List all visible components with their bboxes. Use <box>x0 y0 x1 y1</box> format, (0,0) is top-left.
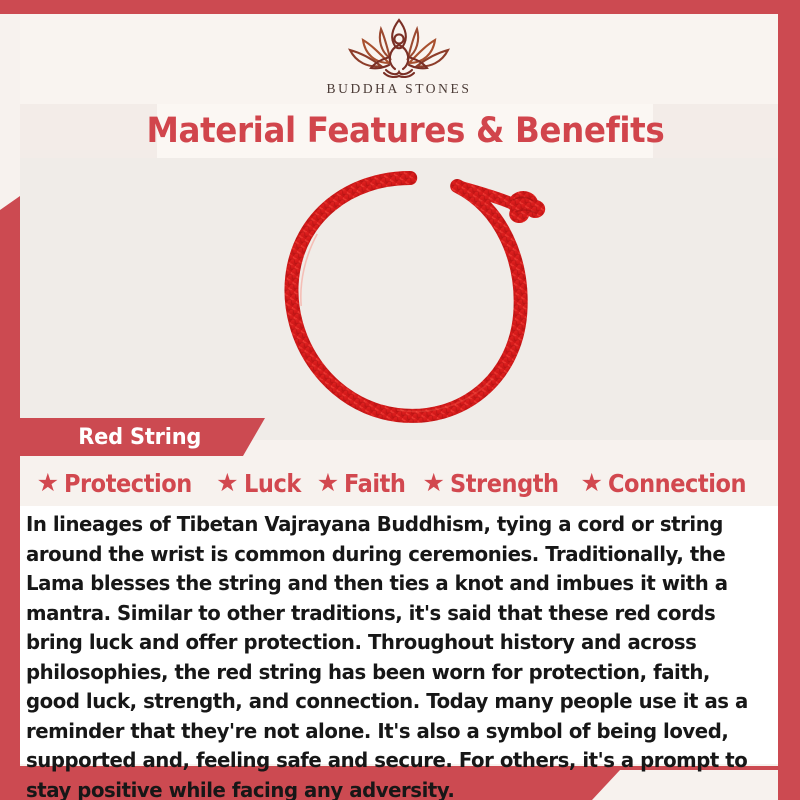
benefit-faith: ★ Faith <box>317 469 413 498</box>
product-photo-area <box>20 158 778 440</box>
benefit-luck: ★ Luck <box>216 469 307 498</box>
brand-header: BUDDHA STONES <box>20 14 778 104</box>
star-icon: ★ <box>422 471 444 496</box>
benefit-connection: ★ Connection <box>581 469 762 498</box>
lotus-meditation-icon <box>340 16 458 80</box>
benefit-label: Strength <box>450 469 559 498</box>
frame-right-bar <box>778 0 800 800</box>
frame-left-lower-bar <box>0 428 20 800</box>
benefit-strength: ★ Strength <box>422 469 570 498</box>
red-string-bracelet-image <box>247 164 577 436</box>
benefit-label: Faith <box>344 469 405 498</box>
description-text: In lineages of Tibetan Vajrayana Buddhis… <box>26 510 757 800</box>
description-panel: In lineages of Tibetan Vajrayana Buddhis… <box>20 506 778 764</box>
star-icon: ★ <box>581 471 603 496</box>
page-title: Material Features & Benefits <box>146 111 664 151</box>
title-plate: Material Features & Benefits <box>157 104 653 158</box>
benefit-label: Connection <box>608 469 746 498</box>
frame-top-bar <box>0 0 800 14</box>
brand-name: BUDDHA STONES <box>327 81 472 97</box>
frame-left-upper-bar <box>0 196 20 428</box>
red-string-label: Red String <box>78 425 201 450</box>
red-string-banner: Red String <box>20 418 265 456</box>
star-icon: ★ <box>37 471 59 496</box>
benefit-label: Protection <box>64 469 192 498</box>
star-icon: ★ <box>216 471 238 496</box>
star-icon: ★ <box>317 471 339 496</box>
brand-logo: BUDDHA STONES <box>20 16 778 97</box>
infographic-poster: BUDDHA STONES Material Features & Benefi… <box>0 0 800 800</box>
benefit-protection: ★ Protection <box>37 469 206 498</box>
benefits-row: ★ Protection ★ Luck ★ Faith ★ Strength ★… <box>20 462 778 504</box>
benefit-label: Luck <box>244 469 301 498</box>
